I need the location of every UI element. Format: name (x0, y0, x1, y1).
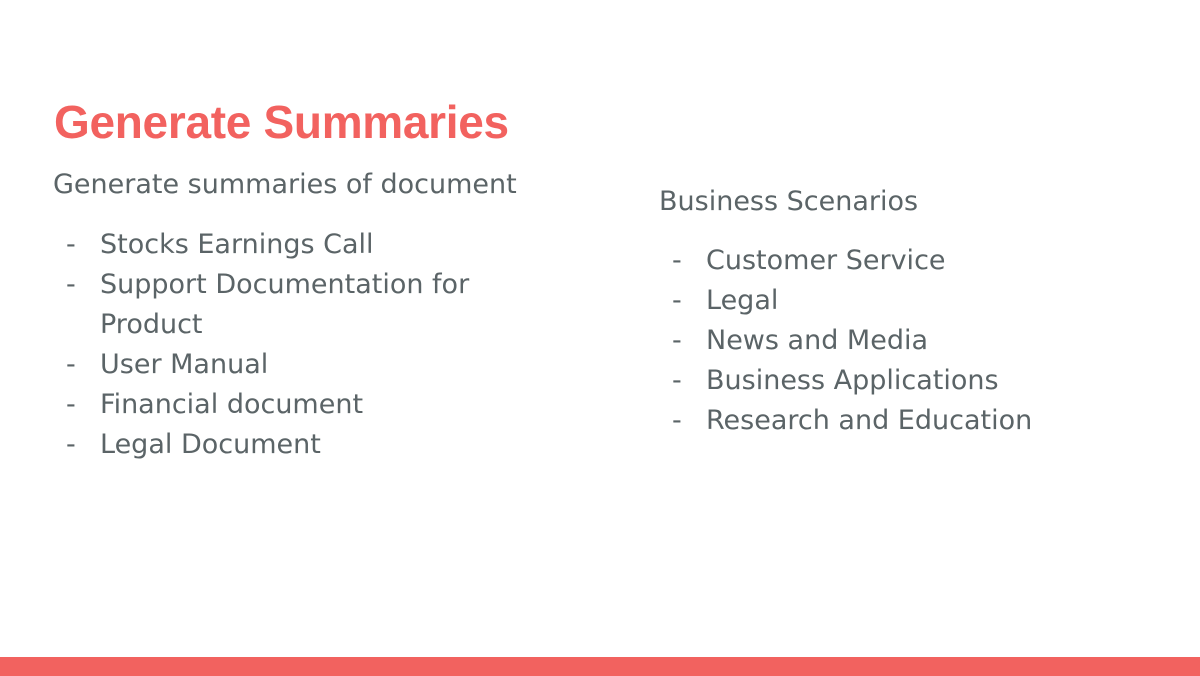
dash-bullet-icon: - (53, 225, 100, 265)
left-column-list: - Stocks Earnings Call - Support Documen… (53, 225, 613, 465)
dash-bullet-icon: - (659, 401, 706, 441)
dash-bullet-icon: - (659, 361, 706, 401)
list-item-label: Customer Service (706, 241, 1169, 281)
list-item: - User Manual (53, 345, 613, 385)
list-item: - Research and Education (659, 401, 1169, 441)
right-column-list: - Customer Service - Legal - News and Me… (659, 241, 1169, 441)
list-item: - Support Documentation for Product (53, 265, 613, 345)
list-item: - Stocks Earnings Call (53, 225, 613, 265)
list-item: - News and Media (659, 321, 1169, 361)
list-item-label: Stocks Earnings Call (100, 225, 520, 265)
left-column-heading: Generate summaries of document (53, 165, 613, 205)
dash-bullet-icon: - (53, 345, 100, 385)
page-title: Generate Summaries (54, 97, 509, 148)
list-item-label: News and Media (706, 321, 1169, 361)
footer-accent-bar (0, 657, 1200, 676)
list-item: - Legal (659, 281, 1169, 321)
slide: Generate Summaries Generate summaries of… (0, 0, 1200, 676)
dash-bullet-icon: - (53, 265, 100, 305)
list-item-label: Financial document (100, 385, 520, 425)
right-column-heading: Business Scenarios (659, 182, 1169, 222)
list-item: - Legal Document (53, 425, 613, 465)
list-item: - Financial document (53, 385, 613, 425)
list-item-label: Legal (706, 281, 1169, 321)
left-column: Generate summaries of document - Stocks … (53, 165, 613, 465)
dash-bullet-icon: - (53, 385, 100, 425)
dash-bullet-icon: - (659, 321, 706, 361)
list-item-label: Business Applications (706, 361, 1169, 401)
list-item-label: User Manual (100, 345, 520, 385)
list-item: - Business Applications (659, 361, 1169, 401)
dash-bullet-icon: - (659, 241, 706, 281)
list-item-label: Support Documentation for Product (100, 265, 520, 345)
list-item-label: Legal Document (100, 425, 520, 465)
list-item-label: Research and Education (706, 401, 1169, 441)
list-item: - Customer Service (659, 241, 1169, 281)
dash-bullet-icon: - (53, 425, 100, 465)
right-column: Business Scenarios - Customer Service - … (659, 182, 1169, 441)
dash-bullet-icon: - (659, 281, 706, 321)
